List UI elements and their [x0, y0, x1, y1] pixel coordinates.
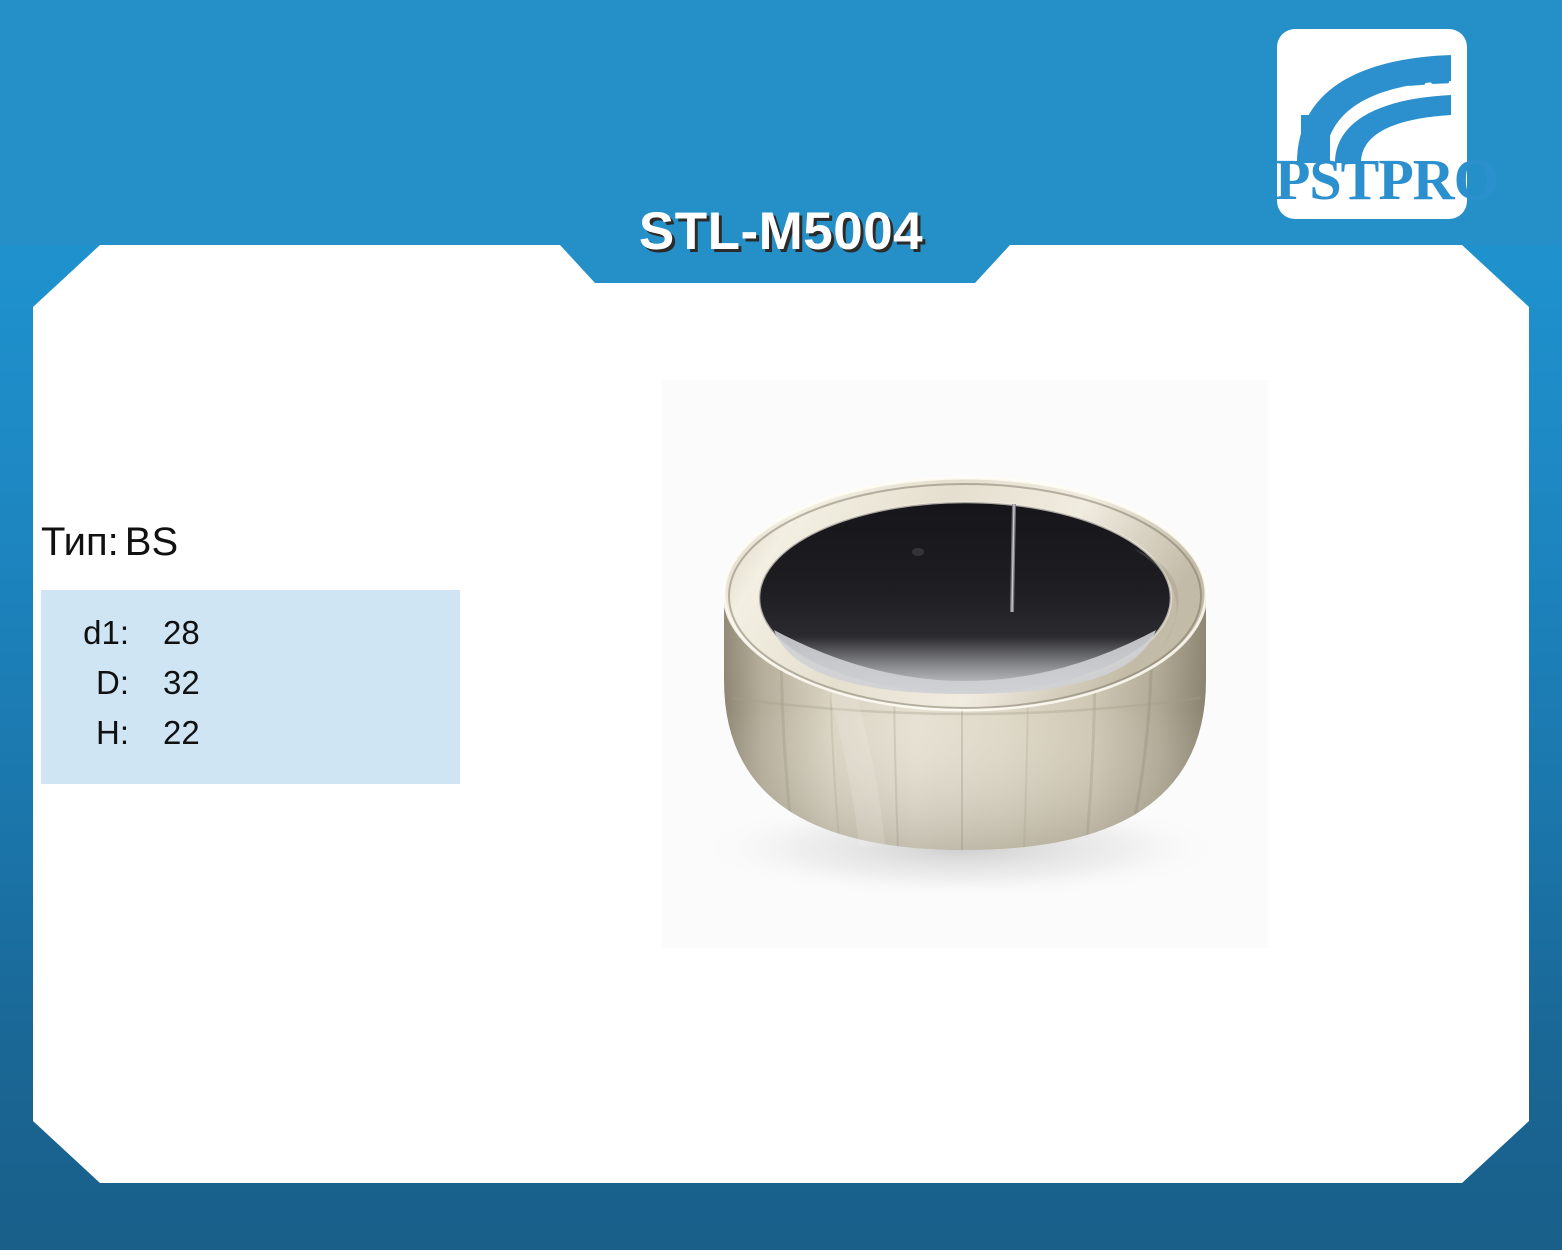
table-row: H: 22 — [41, 708, 460, 758]
dimension-value: 22 — [129, 716, 200, 749]
product-image — [662, 380, 1268, 948]
dimensions-table: d1: 28 D: 32 H: 22 — [41, 590, 460, 784]
type-line: Тип:BS — [41, 520, 461, 564]
product-photo — [662, 380, 1268, 948]
specifications-block: Тип:BS d1: 28 D: 32 H: 22 — [41, 520, 461, 784]
dimension-key: D: — [41, 666, 129, 699]
pstpro-logo: PSTPRO — [1277, 29, 1467, 219]
logo-brand-text: PSTPRO — [1275, 151, 1471, 209]
type-label: Тип: — [41, 520, 119, 564]
dimension-value: 32 — [129, 666, 200, 699]
table-row: d1: 28 — [41, 608, 460, 658]
dimension-key: d1: — [41, 616, 129, 649]
dimension-value: 28 — [129, 616, 200, 649]
dimension-key: H: — [41, 716, 129, 749]
table-row: D: 32 — [41, 658, 460, 708]
type-value: BS — [125, 520, 178, 564]
